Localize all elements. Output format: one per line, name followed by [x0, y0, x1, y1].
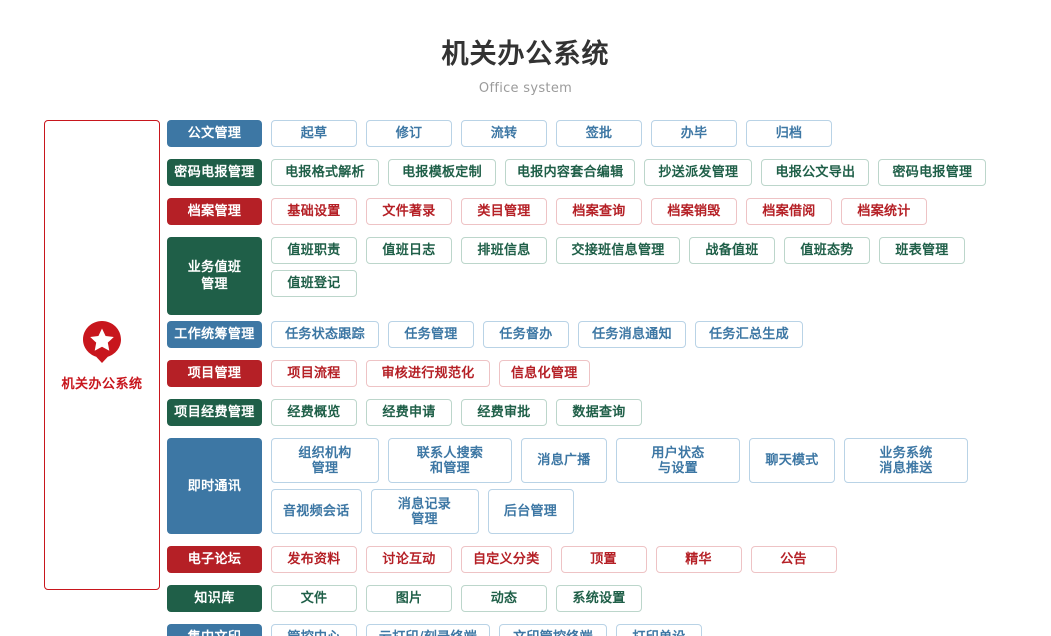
module-rows: 公文管理起草修订流转签批办毕归档密码电报管理电报格式解析电报模板定制电报内容套合…	[167, 120, 1051, 636]
module-item-button[interactable]: 办毕	[651, 120, 737, 147]
module-item-button[interactable]: 动态	[461, 585, 547, 612]
module-item-button[interactable]: 审核进行规范化	[366, 360, 490, 387]
page-title: 机关办公系统	[0, 38, 1051, 72]
module-item-button[interactable]: 签批	[556, 120, 642, 147]
module-item-button[interactable]: 电报内容套合编辑	[505, 159, 635, 186]
module-item-button[interactable]: 班表管理	[879, 237, 965, 264]
module-item-button[interactable]: 基础设置	[271, 198, 357, 225]
module-item-button[interactable]: 管控中心	[271, 624, 357, 636]
module-item-button[interactable]: 档案统计	[841, 198, 927, 225]
module-item-list: 项目流程审核进行规范化信息化管理	[271, 360, 599, 393]
module-item-list: 经费概览经费申请经费审批数据查询	[271, 399, 651, 432]
module-item-button[interactable]: 音视频会话	[271, 489, 362, 534]
module-item-button[interactable]: 任务状态跟踪	[271, 321, 379, 348]
module-item-button[interactable]: 档案销毁	[651, 198, 737, 225]
module-item-button[interactable]: 起草	[271, 120, 357, 147]
module-item-button[interactable]: 抄送派发管理	[644, 159, 752, 186]
module-row: 集中文印管控中心云打印/刻录终端文印管控终端打印单设	[167, 624, 1051, 636]
module-item-button[interactable]: 值班登记	[271, 270, 357, 297]
module-item-button[interactable]: 任务消息通知	[578, 321, 686, 348]
module-item-button[interactable]: 经费审批	[461, 399, 547, 426]
module-item-button[interactable]: 消息广播	[521, 438, 607, 483]
module-item-button[interactable]: 交接班信息管理	[556, 237, 680, 264]
module-item-button[interactable]: 消息记录 管理	[371, 489, 479, 534]
office-system-architecture-page: 机关办公系统 Office system 机关办公系统 公文管理起草修订流转签批…	[0, 0, 1051, 636]
module-category-label[interactable]: 电子论坛	[167, 546, 262, 573]
module-item-button[interactable]: 联系人搜索 和管理	[388, 438, 512, 483]
module-item-button[interactable]: 公告	[751, 546, 837, 573]
map-pin-star-icon	[79, 318, 125, 364]
module-item-button[interactable]: 数据查询	[556, 399, 642, 426]
module-item-button[interactable]: 任务汇总生成	[695, 321, 803, 348]
module-item-button[interactable]: 战备值班	[689, 237, 775, 264]
module-item-button[interactable]: 发布资料	[271, 546, 357, 573]
module-row: 密码电报管理电报格式解析电报模板定制电报内容套合编辑抄送派发管理电报公文导出密码…	[167, 159, 1051, 192]
module-row: 知识库文件图片动态系统设置	[167, 585, 1051, 618]
module-item-button[interactable]: 图片	[366, 585, 452, 612]
module-row: 业务值班 管理值班职责值班日志排班信息交接班信息管理战备值班值班态势班表管理值班…	[167, 237, 1051, 315]
module-item-button[interactable]: 信息化管理	[499, 360, 590, 387]
module-item-button[interactable]: 顶置	[561, 546, 647, 573]
module-row: 档案管理基础设置文件著录类目管理档案查询档案销毁档案借阅档案统计	[167, 198, 1051, 231]
module-row: 即时通讯组织机构 管理联系人搜索 和管理消息广播用户状态 与设置聊天模式业务系统…	[167, 438, 1051, 540]
page-header: 机关办公系统 Office system	[0, 0, 1051, 97]
module-category-label[interactable]: 公文管理	[167, 120, 262, 147]
module-item-list: 任务状态跟踪任务管理任务督办任务消息通知任务汇总生成	[271, 321, 812, 354]
module-item-button[interactable]: 经费概览	[271, 399, 357, 426]
module-category-label[interactable]: 业务值班 管理	[167, 237, 262, 315]
module-item-button[interactable]: 组织机构 管理	[271, 438, 379, 483]
brand-panel: 机关办公系统	[44, 120, 160, 590]
brand-name: 机关办公系统	[61, 373, 142, 392]
module-item-button[interactable]: 打印单设	[616, 624, 702, 636]
module-item-button[interactable]: 档案查询	[556, 198, 642, 225]
page-subtitle: Office system	[0, 81, 1051, 97]
module-category-label[interactable]: 工作统筹管理	[167, 321, 262, 348]
module-item-button[interactable]: 云打印/刻录终端	[366, 624, 490, 636]
module-item-button[interactable]: 电报模板定制	[388, 159, 496, 186]
module-item-button[interactable]: 讨论互动	[366, 546, 452, 573]
module-item-button[interactable]: 流转	[461, 120, 547, 147]
module-item-button[interactable]: 文件	[271, 585, 357, 612]
module-item-button[interactable]: 系统设置	[556, 585, 642, 612]
module-item-button[interactable]: 任务管理	[388, 321, 474, 348]
module-item-button[interactable]: 用户状态 与设置	[616, 438, 740, 483]
module-item-button[interactable]: 任务督办	[483, 321, 569, 348]
module-item-list: 值班职责值班日志排班信息交接班信息管理战备值班值班态势班表管理值班登记	[271, 237, 1051, 315]
module-item-button[interactable]: 文印管控终端	[499, 624, 607, 636]
module-item-button[interactable]: 精华	[656, 546, 742, 573]
module-item-list: 电报格式解析电报模板定制电报内容套合编辑抄送派发管理电报公文导出密码电报管理	[271, 159, 995, 192]
module-item-button[interactable]: 业务系统 消息推送	[844, 438, 968, 483]
module-category-label[interactable]: 项目管理	[167, 360, 262, 387]
module-item-button[interactable]: 类目管理	[461, 198, 547, 225]
module-item-button[interactable]: 电报公文导出	[761, 159, 869, 186]
module-item-button[interactable]: 值班态势	[784, 237, 870, 264]
module-item-button[interactable]: 聊天模式	[749, 438, 835, 483]
module-row: 项目管理项目流程审核进行规范化信息化管理	[167, 360, 1051, 393]
module-item-list: 文件图片动态系统设置	[271, 585, 651, 618]
diagram-body: 机关办公系统 公文管理起草修订流转签批办毕归档密码电报管理电报格式解析电报模板定…	[0, 120, 1051, 636]
module-category-label[interactable]: 集中文印	[167, 624, 262, 636]
module-item-button[interactable]: 项目流程	[271, 360, 357, 387]
module-item-list: 组织机构 管理联系人搜索 和管理消息广播用户状态 与设置聊天模式业务系统 消息推…	[271, 438, 1051, 540]
module-item-list: 起草修订流转签批办毕归档	[271, 120, 841, 153]
module-item-button[interactable]: 归档	[746, 120, 832, 147]
module-item-button[interactable]: 电报格式解析	[271, 159, 379, 186]
module-item-button[interactable]: 值班职责	[271, 237, 357, 264]
module-item-button[interactable]: 排班信息	[461, 237, 547, 264]
module-category-label[interactable]: 知识库	[167, 585, 262, 612]
module-category-label[interactable]: 档案管理	[167, 198, 262, 225]
module-category-label[interactable]: 项目经费管理	[167, 399, 262, 426]
module-category-label[interactable]: 即时通讯	[167, 438, 262, 534]
module-row: 公文管理起草修订流转签批办毕归档	[167, 120, 1051, 153]
module-item-list: 基础设置文件著录类目管理档案查询档案销毁档案借阅档案统计	[271, 198, 936, 231]
module-item-button[interactable]: 值班日志	[366, 237, 452, 264]
module-item-list: 发布资料讨论互动自定义分类顶置精华公告	[271, 546, 846, 579]
module-row: 工作统筹管理任务状态跟踪任务管理任务督办任务消息通知任务汇总生成	[167, 321, 1051, 354]
module-row: 项目经费管理经费概览经费申请经费审批数据查询	[167, 399, 1051, 432]
module-item-button[interactable]: 修订	[366, 120, 452, 147]
module-item-button[interactable]: 文件著录	[366, 198, 452, 225]
module-item-button[interactable]: 自定义分类	[461, 546, 552, 573]
module-item-button[interactable]: 经费申请	[366, 399, 452, 426]
module-item-button[interactable]: 档案借阅	[746, 198, 832, 225]
module-item-list: 管控中心云打印/刻录终端文印管控终端打印单设	[271, 624, 711, 636]
module-item-button[interactable]: 后台管理	[488, 489, 574, 534]
module-row: 电子论坛发布资料讨论互动自定义分类顶置精华公告	[167, 546, 1051, 579]
module-item-button[interactable]: 密码电报管理	[878, 159, 986, 186]
module-category-label[interactable]: 密码电报管理	[167, 159, 262, 186]
